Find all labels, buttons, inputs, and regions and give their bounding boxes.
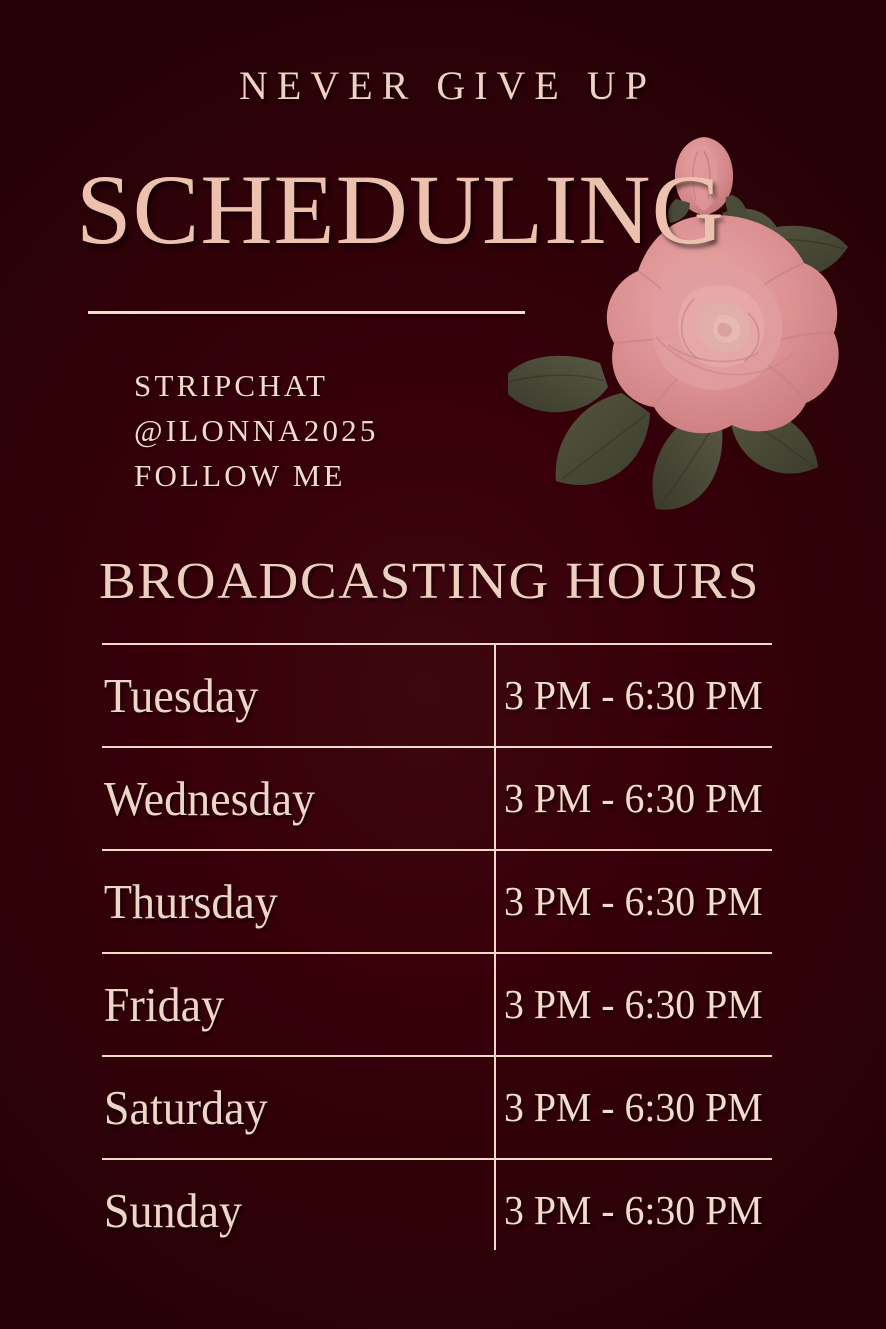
day-label: Saturday — [102, 1083, 450, 1132]
time-value: 3 PM - 6:30 PM — [472, 881, 763, 922]
time-value: 3 PM - 6:30 PM — [472, 675, 763, 716]
eyebrow-text: NEVER GIVE UP — [0, 62, 886, 109]
time-value: 3 PM - 6:30 PM — [472, 1190, 763, 1231]
table-row: Friday 3 PM - 6:30 PM — [102, 952, 772, 1055]
table-row: Saturday 3 PM - 6:30 PM — [102, 1055, 772, 1158]
promo-handle: @ILONNA2025 — [134, 409, 379, 454]
page-title: SCHEDULING — [76, 160, 725, 260]
day-label: Sunday — [102, 1186, 450, 1235]
promo-platform: STRIPCHAT — [134, 364, 379, 409]
schedule-heading: BROADCASTING HOURS — [99, 556, 760, 608]
schedule-table: Tuesday 3 PM - 6:30 PM Wednesday 3 PM - … — [102, 643, 772, 1261]
table-row: Sunday 3 PM - 6:30 PM — [102, 1158, 772, 1261]
time-value: 3 PM - 6:30 PM — [472, 984, 763, 1025]
schedule-poster: NEVER GIVE UP SCHEDULING — [0, 0, 886, 1329]
header-divider — [88, 311, 525, 314]
time-value: 3 PM - 6:30 PM — [472, 778, 763, 819]
table-row: Thursday 3 PM - 6:30 PM — [102, 849, 772, 952]
day-label: Wednesday — [102, 774, 450, 823]
day-label: Thursday — [102, 877, 450, 926]
day-label: Tuesday — [102, 671, 450, 720]
time-value: 3 PM - 6:30 PM — [472, 1087, 763, 1128]
table-row: Tuesday 3 PM - 6:30 PM — [102, 643, 772, 746]
promo-block: STRIPCHAT @ILONNA2025 FOLLOW ME — [134, 364, 379, 499]
promo-cta: FOLLOW ME — [134, 454, 379, 499]
day-label: Friday — [102, 980, 450, 1029]
table-row: Wednesday 3 PM - 6:30 PM — [102, 746, 772, 849]
